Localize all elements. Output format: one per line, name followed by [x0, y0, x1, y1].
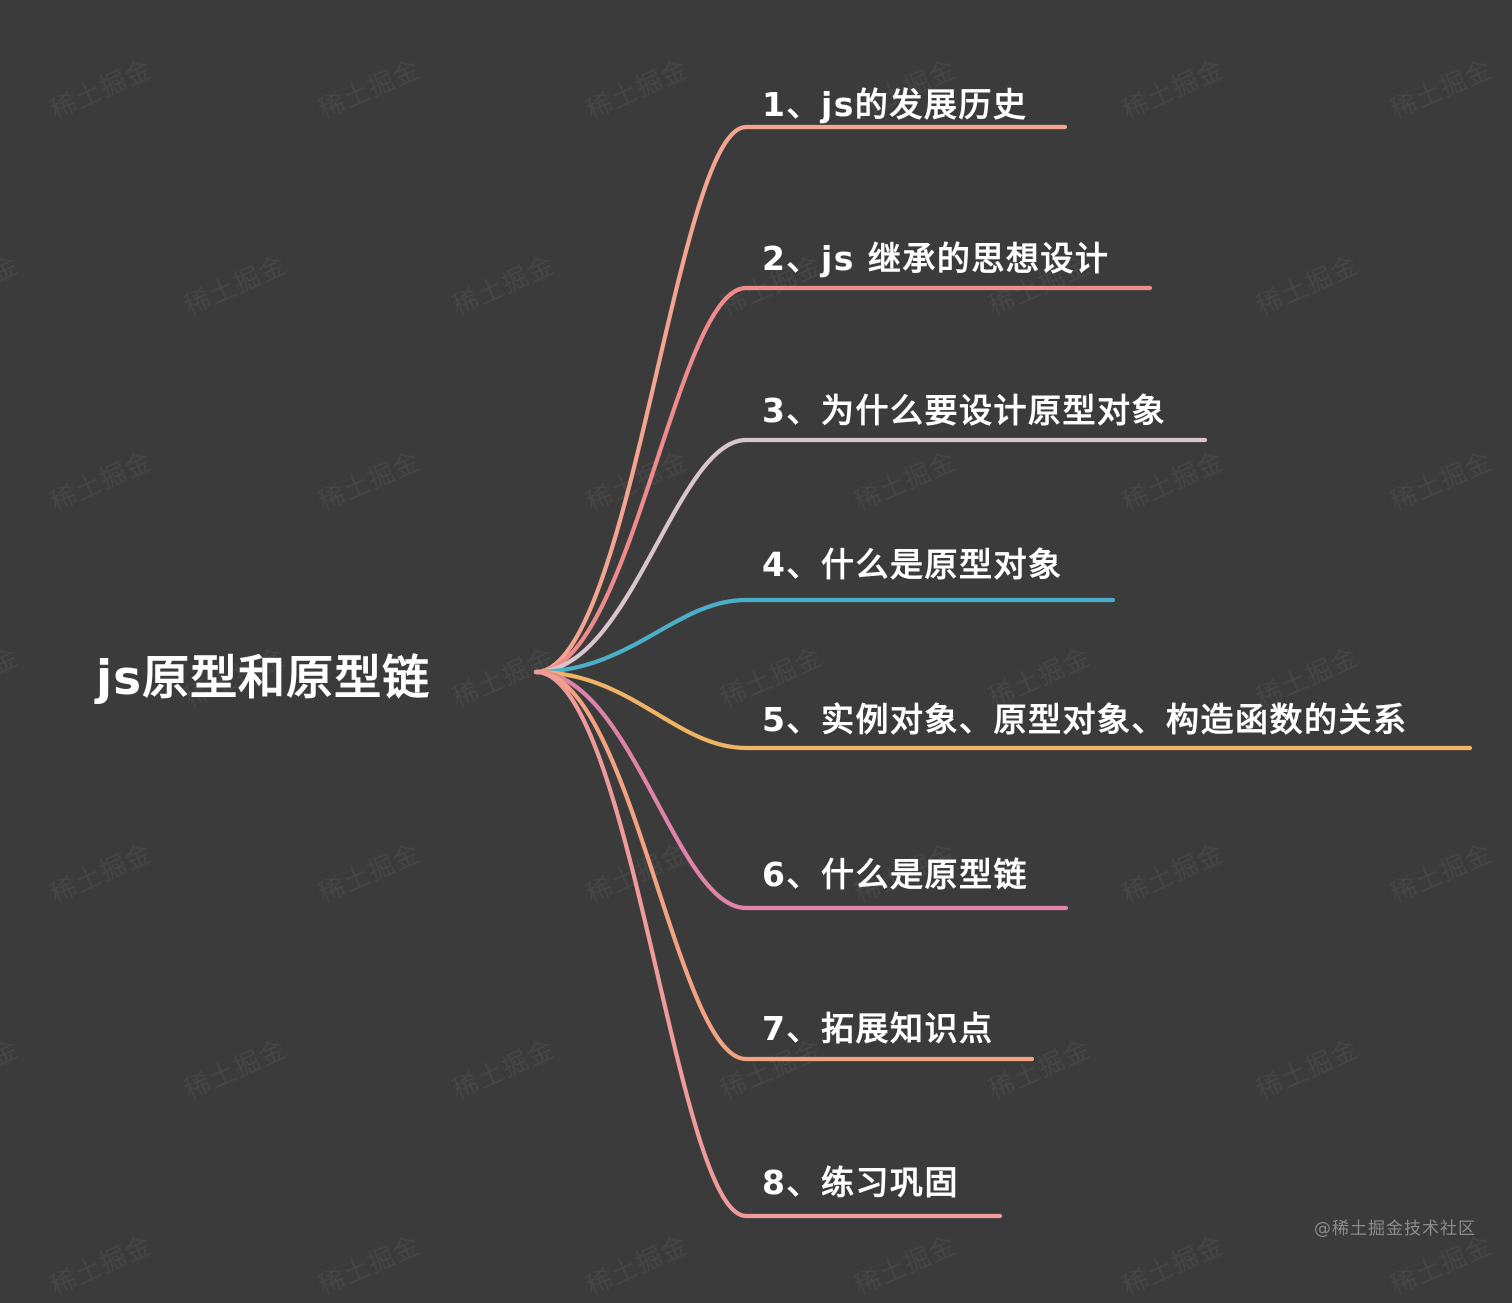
watermark-tile: 稀土掘金 — [1119, 447, 1230, 518]
branch-label-2: 2、js 继承的思想设计 — [762, 232, 1109, 280]
watermark-tile: 稀土掘金 — [0, 251, 23, 322]
root-node-label: js原型和原型链 — [96, 639, 430, 708]
watermark-tile: 稀土掘金 — [583, 55, 694, 126]
watermark-tile: 稀土掘金 — [583, 447, 694, 518]
watermark-tile: 稀土掘金 — [315, 839, 426, 910]
root-node[interactable]: js原型和原型链 — [96, 634, 516, 712]
branch-4[interactable]: 4、什么是原型对象 — [762, 538, 1062, 586]
branch-connector-4 — [536, 600, 1113, 672]
watermark-tile: 稀土掘金 — [181, 251, 292, 322]
branch-label-4: 4、什么是原型对象 — [762, 538, 1062, 586]
branch-label-7: 7、拓展知识点 — [762, 1002, 993, 1050]
watermark-tile: 稀土掘金 — [985, 1035, 1096, 1106]
watermark-tile: 稀土掘金 — [851, 447, 962, 518]
branch-label-6: 6、什么是原型链 — [762, 848, 1028, 896]
watermark-tile: 稀土掘金 — [1387, 55, 1498, 126]
watermark-tile: 稀土掘金 — [1253, 1035, 1364, 1106]
branch-label-8: 8、练习巩固 — [762, 1156, 959, 1204]
branch-2[interactable]: 2、js 继承的思想设计 — [762, 232, 1109, 280]
branch-3[interactable]: 3、为什么要设计原型对象 — [762, 384, 1166, 432]
watermark-tile: 稀土掘金 — [315, 447, 426, 518]
watermark-tile: 稀土掘金 — [0, 1035, 23, 1106]
watermark-tile: 稀土掘金 — [181, 1035, 292, 1106]
mindmap-canvas: 稀土掘金稀土掘金稀土掘金稀土掘金稀土掘金稀土掘金稀土掘金稀土掘金稀土掘金稀土掘金… — [0, 0, 1512, 1267]
watermark-tile: 稀土掘金 — [1119, 55, 1230, 126]
branch-8[interactable]: 8、练习巩固 — [762, 1156, 959, 1204]
branch-6[interactable]: 6、什么是原型链 — [762, 848, 1028, 896]
watermark-tile: 稀土掘金 — [449, 1035, 560, 1106]
watermark-tile: 稀土掘金 — [583, 839, 694, 910]
watermark-tile: 稀土掘金 — [47, 839, 158, 910]
branch-label-3: 3、为什么要设计原型对象 — [762, 384, 1166, 432]
watermark-tile: 稀土掘金 — [1119, 839, 1230, 910]
watermark-tile: 稀土掘金 — [449, 251, 560, 322]
watermark-tile: 稀土掘金 — [315, 55, 426, 126]
watermark-tile: 稀土掘金 — [1387, 447, 1498, 518]
watermark-tile: 稀土掘金 — [47, 447, 158, 518]
watermark-tile: 稀土掘金 — [0, 643, 23, 714]
branch-5[interactable]: 5、实例对象、原型对象、构造函数的关系 — [762, 693, 1407, 741]
branch-connector-2 — [536, 288, 1150, 672]
watermark-tile: 稀土掘金 — [1387, 839, 1498, 910]
attribution-watermark: @稀土掘金技术社区 — [1314, 1214, 1476, 1239]
branch-1[interactable]: 1、js的发展历史 — [762, 78, 1027, 126]
watermark-tile: 稀土掘金 — [47, 55, 158, 126]
branch-label-5: 5、实例对象、原型对象、构造函数的关系 — [762, 693, 1407, 741]
branch-label-1: 1、js的发展历史 — [762, 78, 1027, 126]
watermark-tile: 稀土掘金 — [1253, 251, 1364, 322]
branch-7[interactable]: 7、拓展知识点 — [762, 1002, 993, 1050]
branch-connector-8 — [536, 672, 1000, 1216]
